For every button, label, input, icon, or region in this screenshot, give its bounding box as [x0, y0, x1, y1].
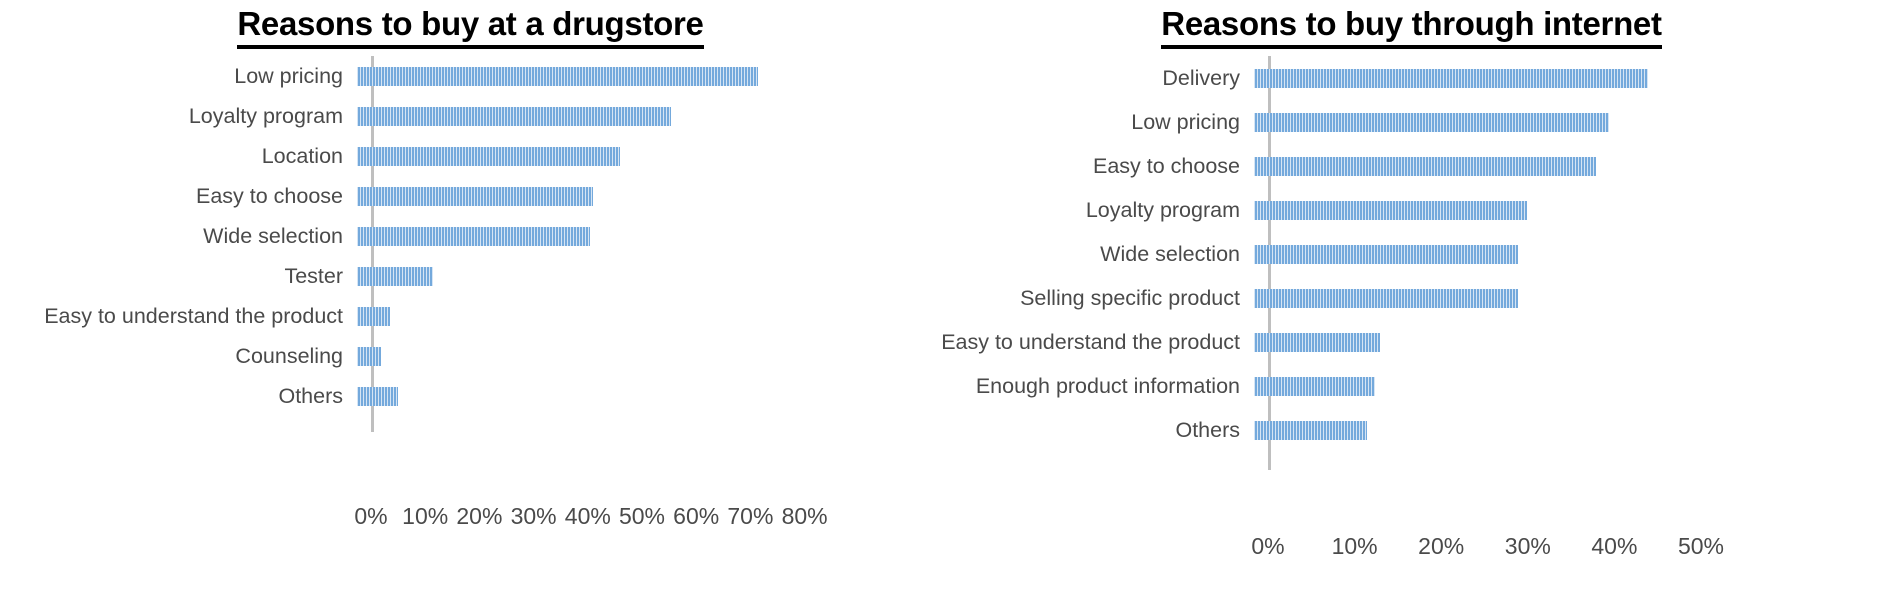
bar-row: Easy to understand the product: [941, 320, 1882, 364]
bar-row: Low pricing: [0, 56, 941, 96]
bar: [357, 347, 381, 366]
category-label: Others: [941, 418, 1254, 443]
x-tick-label: 30%: [1505, 533, 1551, 560]
category-label: Easy to choose: [0, 184, 357, 209]
bar: [357, 307, 390, 326]
bar-track: [1254, 100, 1882, 144]
bar-row: Wide selection: [0, 216, 941, 256]
x-tick-label: 20%: [456, 503, 502, 530]
plot-area-right: DeliveryLow pricingEasy to chooseLoyalty…: [941, 48, 1882, 538]
category-label: Wide selection: [0, 224, 357, 249]
bar-row: Others: [0, 376, 941, 416]
category-label: Loyalty program: [0, 104, 357, 129]
bar-row: Easy to choose: [0, 176, 941, 216]
bar: [1254, 377, 1375, 396]
category-label: Location: [0, 144, 357, 169]
plot-area-left: Low pricingLoyalty programLocationEasy t…: [0, 48, 941, 538]
bar-track: [357, 176, 941, 216]
bar-track: [1254, 364, 1882, 408]
x-tick-label: 10%: [1332, 533, 1378, 560]
bar: [1254, 245, 1518, 264]
x-tick-label: 40%: [565, 503, 611, 530]
category-label: Wide selection: [941, 242, 1254, 267]
bar-track: [1254, 232, 1882, 276]
bar: [357, 67, 758, 86]
chart-panel-internet: Reasons to buy through internet Delivery…: [941, 0, 1882, 596]
chart-title-left: Reasons to buy at a drugstore: [0, 0, 941, 48]
category-label: Low pricing: [0, 64, 357, 89]
bar-row: Enough product information: [941, 364, 1882, 408]
bar: [357, 227, 590, 246]
x-tick-label: 20%: [1418, 533, 1464, 560]
bar-row: Loyalty program: [0, 96, 941, 136]
x-tick-label: 10%: [402, 503, 448, 530]
bar-track: [357, 216, 941, 256]
chart-title-right-text: Reasons to buy through internet: [1161, 7, 1661, 49]
bar-row: Wide selection: [941, 232, 1882, 276]
bar-track: [357, 256, 941, 296]
chart-page: Reasons to buy at a drugstore Low pricin…: [0, 0, 1882, 596]
bar-row: Delivery: [941, 56, 1882, 100]
x-tick-label: 80%: [782, 503, 828, 530]
category-label: Loyalty program: [941, 198, 1254, 223]
bar-row: Selling specific product: [941, 276, 1882, 320]
bar-track: [357, 376, 941, 416]
bar-rows-left: Low pricingLoyalty programLocationEasy t…: [0, 56, 941, 416]
bar: [1254, 69, 1648, 88]
bar-row: Easy to choose: [941, 144, 1882, 188]
bar: [357, 107, 671, 126]
bar: [1254, 113, 1609, 132]
category-label: Counseling: [0, 344, 357, 369]
x-tick-label: 40%: [1591, 533, 1637, 560]
chart-title-right: Reasons to buy through internet: [941, 0, 1882, 48]
bar-track: [357, 56, 941, 96]
x-tick-label: 50%: [1678, 533, 1724, 560]
bar-track: [1254, 144, 1882, 188]
bar-row: Easy to understand the product: [0, 296, 941, 336]
bar: [1254, 157, 1596, 176]
bar: [357, 267, 433, 286]
bar-rows-right: DeliveryLow pricingEasy to chooseLoyalty…: [941, 56, 1882, 452]
bar: [357, 187, 593, 206]
bar: [357, 147, 620, 166]
bar-row: Low pricing: [941, 100, 1882, 144]
bar-track: [357, 96, 941, 136]
chart-title-left-text: Reasons to buy at a drugstore: [237, 7, 703, 49]
bar-track: [1254, 276, 1882, 320]
bar-row: Tester: [0, 256, 941, 296]
bar: [1254, 421, 1367, 440]
bar: [1254, 333, 1380, 352]
bar: [1254, 289, 1518, 308]
category-label: Tester: [0, 264, 357, 289]
bar-track: [1254, 320, 1882, 364]
bar-track: [357, 296, 941, 336]
bar-track: [357, 336, 941, 376]
category-label: Delivery: [941, 66, 1254, 91]
x-axis-ticks-left: 0%10%20%30%40%50%60%70%80%: [0, 503, 941, 537]
category-label: Others: [0, 384, 357, 409]
bar-row: Others: [941, 408, 1882, 452]
category-label: Easy to understand the product: [941, 330, 1254, 355]
category-label: Enough product information: [941, 374, 1254, 399]
x-axis-ticks-right: 0%10%20%30%40%50%: [941, 533, 1882, 567]
bar-row: Counseling: [0, 336, 941, 376]
category-label: Low pricing: [941, 110, 1254, 135]
x-tick-label: 30%: [511, 503, 557, 530]
x-tick-label: 0%: [1251, 533, 1284, 560]
x-tick-label: 50%: [619, 503, 665, 530]
category-label: Easy to choose: [941, 154, 1254, 179]
bar-row: Location: [0, 136, 941, 176]
bar-track: [1254, 56, 1882, 100]
x-tick-label: 60%: [673, 503, 719, 530]
bar: [357, 387, 398, 406]
bar-track: [1254, 408, 1882, 452]
category-label: Selling specific product: [941, 286, 1254, 311]
bar-track: [1254, 188, 1882, 232]
x-tick-label: 70%: [727, 503, 773, 530]
x-tick-label: 0%: [354, 503, 387, 530]
chart-panel-drugstore: Reasons to buy at a drugstore Low pricin…: [0, 0, 941, 596]
bar: [1254, 201, 1527, 220]
bar-track: [357, 136, 941, 176]
category-label: Easy to understand the product: [0, 304, 357, 329]
bar-row: Loyalty program: [941, 188, 1882, 232]
